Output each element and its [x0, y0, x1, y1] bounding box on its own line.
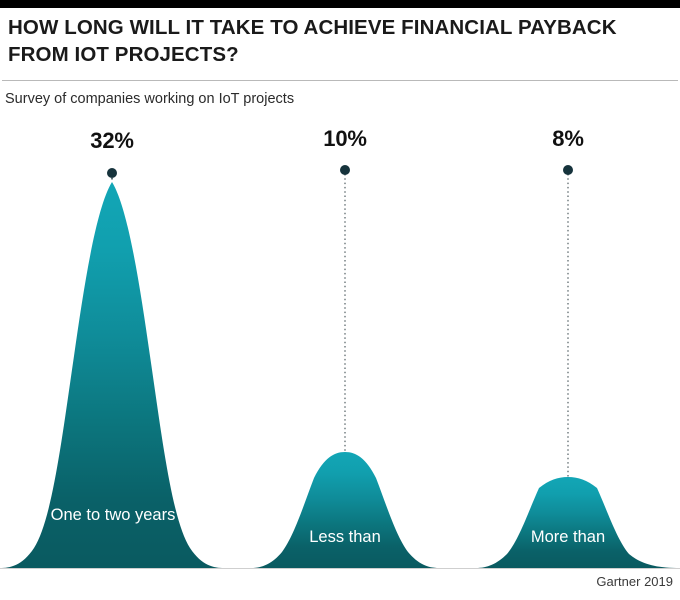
peak-marker-1 — [107, 168, 117, 178]
page-subtitle: Survey of companies working on IoT proje… — [5, 90, 294, 109]
bell-curve-chart — [0, 108, 680, 570]
curve-category-label-3: More than five years — [531, 504, 605, 592]
peak-marker-2 — [340, 165, 350, 175]
header-divider — [2, 80, 678, 81]
peak-value-label-1: 32% — [90, 128, 133, 154]
curve-label-2-line1: Less than — [309, 528, 381, 546]
curve-category-label-2: Less than a year — [309, 504, 381, 592]
curve-label-3-line2: five years — [533, 572, 604, 590]
top-accent-bar — [0, 0, 680, 8]
peak-value-label-3: 8% — [552, 126, 583, 152]
curve-category-label-1: One to two years — [51, 504, 176, 526]
source-attribution: Gartner 2019 — [596, 574, 673, 589]
curve-label-2-line2: a year — [322, 572, 368, 590]
page-title: How long will it take to achieve financi… — [8, 14, 676, 68]
peak-value-label-2: 10% — [323, 126, 366, 152]
peak-marker-3 — [563, 165, 573, 175]
chart-area: 32% 10% 8% One to two years Less than a … — [0, 108, 680, 570]
curve-label-3-line1: More than — [531, 528, 605, 546]
